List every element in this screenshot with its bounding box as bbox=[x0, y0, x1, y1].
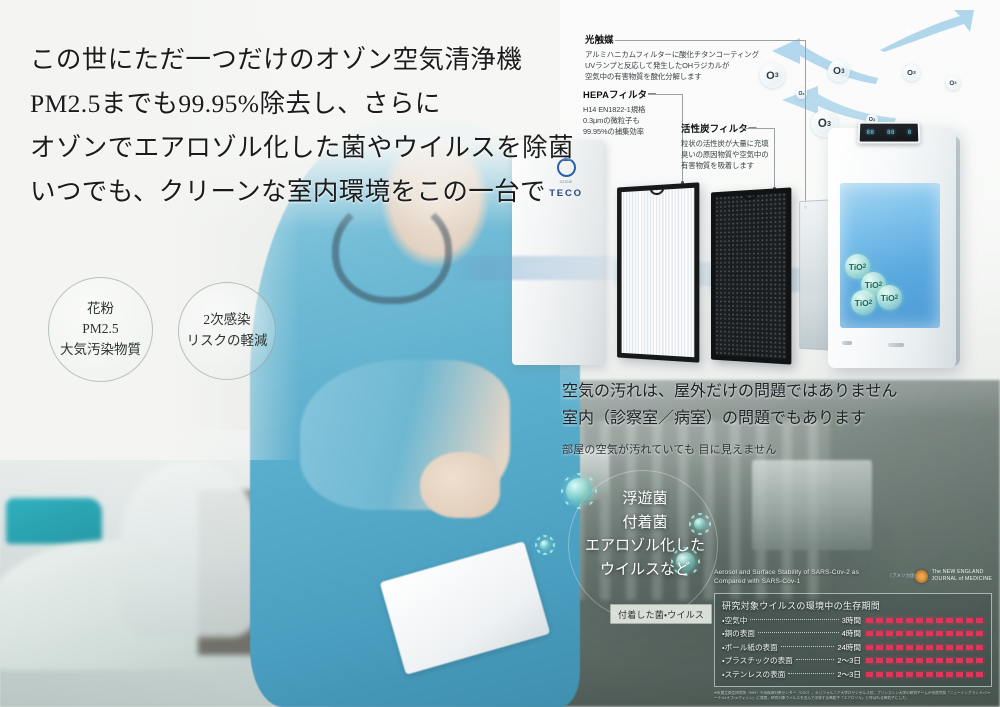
teco-logo-sub: OZONE bbox=[560, 180, 573, 184]
bed-sheet bbox=[0, 540, 240, 670]
table-row: ・プラスチックの表面 2〜3日 bbox=[722, 655, 984, 666]
row-leader bbox=[758, 632, 839, 633]
pathogen-label: 浮遊菌 付着菌 エアロゾル化した ウイルスなど bbox=[560, 488, 730, 583]
row-label: ・空気中 bbox=[722, 615, 747, 626]
sub-headline-line: 空気の汚れは、屋外だけの問題ではありません bbox=[562, 379, 962, 406]
row-label: ・ステンレスの表面 bbox=[722, 669, 785, 680]
table-title: 研究対象ウイルスの環境中の生存期間 bbox=[722, 599, 984, 612]
callout-body: アルミハニカムフィルターに酸化チタンコーティング UVランプと反応して発生したO… bbox=[585, 50, 775, 83]
row-leader bbox=[788, 673, 834, 674]
benefit-line: 大気汚染物質 bbox=[60, 340, 141, 361]
table-row: ・ボール紙の表面 24時間 bbox=[722, 642, 984, 653]
callout-photocatalyst: 光触媒 アルミハニカムフィルターに酸化チタンコーティング UVランプと反応して発… bbox=[585, 33, 775, 83]
callout-carbon-filter: 活性炭フィルター 粒状の活性炭が大量に充填 臭いの原因物質や空気中の 有害物質を… bbox=[681, 122, 785, 172]
display-segment: 88 bbox=[887, 129, 895, 136]
dust-speck bbox=[905, 28, 911, 34]
ozone-bubble: O3 bbox=[946, 76, 960, 90]
tio2-tag: TiO2 bbox=[877, 285, 902, 310]
benefit-line: リスクの軽減 bbox=[187, 331, 268, 352]
headline-line: PM2.5までも99.95%除去し、さらに bbox=[30, 82, 550, 126]
clipboard bbox=[380, 541, 551, 675]
teco-logo: OZONE TECO bbox=[548, 158, 584, 199]
airflow-arrow-top-right bbox=[878, 8, 976, 52]
tio2-tag: TiO2 bbox=[851, 290, 876, 315]
hepa-filter-panel bbox=[617, 182, 699, 362]
benefit-badge-pollen-pm25: 花粉 PM2.5 大気汚染物質 bbox=[48, 277, 153, 382]
row-label: ・銅の表面 bbox=[722, 628, 755, 639]
callout-body: 粒状の活性炭が大量に充填 臭いの原因物質や空気中の 有害物質を吸着します bbox=[681, 139, 785, 172]
pathogen-line: 付着菌 bbox=[560, 512, 730, 536]
carbon-filter-handle bbox=[742, 192, 757, 201]
nejm-brand-line2: JOURNAL of MEDICINE bbox=[932, 576, 992, 583]
nejm-brand-line1: The NEW ENGLAND bbox=[932, 569, 992, 576]
benefit-line: 2次感染 bbox=[203, 310, 250, 331]
bed-headboard bbox=[6, 498, 102, 544]
callout-title: HEPAフィルター bbox=[583, 88, 657, 103]
nejm-data-panel: Aerosol and Surface Stability of SARS-Co… bbox=[714, 568, 992, 701]
leader-line-photocatalyst-drop bbox=[805, 40, 806, 208]
row-bar bbox=[866, 658, 984, 663]
surface-contamination-tag: 付着した菌・ウイルス bbox=[610, 604, 712, 624]
row-label: ・プラスチックの表面 bbox=[722, 655, 793, 666]
pathogen-line: ウイルスなど bbox=[560, 559, 730, 583]
row-value: 3時間 bbox=[842, 615, 861, 626]
row-leader bbox=[781, 646, 835, 647]
nurse-arm bbox=[300, 360, 510, 510]
row-label: ・ボール紙の表面 bbox=[722, 642, 778, 653]
table-row: ・銅の表面 4時間 bbox=[722, 628, 984, 639]
row-leader bbox=[750, 619, 838, 620]
table-row: ・空気中 3時間 bbox=[722, 615, 984, 626]
row-value: 2〜3日 bbox=[837, 655, 861, 666]
caregiver-figure bbox=[120, 462, 260, 637]
teco-brand-text: TECO bbox=[549, 188, 583, 199]
sub-headline-line: 室内（診察室／病室）の問題でもあります bbox=[562, 406, 962, 433]
row-bar bbox=[866, 631, 984, 636]
unit-vent bbox=[888, 343, 904, 347]
row-leader bbox=[796, 659, 835, 660]
headline-line: オゾンでエアロゾル化した菌やウイルスを除菌 bbox=[30, 126, 550, 170]
row-value: 24時間 bbox=[837, 642, 861, 653]
callout-body: H14 EN1822-1規格 0.3μmの微粒子も 99.95%の捕集効率 bbox=[583, 105, 687, 138]
row-value: 4時間 bbox=[842, 628, 861, 639]
dust-speck bbox=[963, 120, 968, 125]
patient-monitor-right bbox=[752, 460, 872, 550]
benefit-badge-secondary-infection: 2次感染 リスクの軽減 bbox=[178, 282, 276, 380]
callout-hepa-filter: HEPAフィルター H14 EN1822-1規格 0.3μmの微粒子も 99.9… bbox=[583, 88, 687, 138]
doorway bbox=[198, 490, 278, 655]
sub-headline-note: 部屋の空気が汚れていても 目に見えません bbox=[562, 441, 962, 457]
benefit-line: PM2.5 bbox=[82, 319, 118, 340]
ozone-bubble: O3 bbox=[903, 64, 920, 81]
display-segment: 88 bbox=[866, 129, 874, 136]
survival-duration-table: 研究対象ウイルスの環境中の生存期間 ・空気中 3時間 ・銅の表面 4時間 ・ボー… bbox=[714, 593, 992, 687]
patient-room-photo bbox=[0, 430, 330, 707]
pathogen-line: 浮遊菌 bbox=[560, 488, 730, 512]
nejm-study-title: Aerosol and Surface Stability of SARS-Co… bbox=[714, 568, 889, 587]
hepa-filter-handle bbox=[649, 187, 664, 196]
row-value: 2〜3日 bbox=[837, 669, 861, 680]
purifier-control-display[interactable]: 88 88 8 bbox=[858, 122, 921, 144]
ozone-bubble: O3 bbox=[796, 88, 807, 99]
benefit-line: 花粉 bbox=[87, 299, 114, 320]
page-title: この世にただ一つだけのオゾン空気清浄機 PM2.5までも99.95%除去し、さら… bbox=[30, 38, 550, 213]
nejm-brand-text: The NEW ENGLAND JOURNAL of MEDICINE bbox=[932, 569, 992, 584]
row-bar bbox=[866, 645, 984, 650]
row-bar bbox=[866, 672, 984, 677]
nejm-brand-logo: The NEW ENGLAND JOURNAL of MEDICINE bbox=[915, 569, 992, 584]
headline-line: いつでも、クリーンな室内環境をこの一台で bbox=[30, 170, 550, 214]
table-row: ・ステンレスの表面 2〜3日 bbox=[722, 669, 984, 680]
pathogen-line: エアロゾル化した bbox=[560, 535, 730, 559]
activated-carbon-filter-panel bbox=[711, 187, 791, 364]
unit-vent bbox=[842, 341, 852, 345]
ozone-bubble: O3 bbox=[828, 60, 850, 82]
headline-line: この世にただ一つだけのオゾン空気清浄機 bbox=[30, 38, 550, 82]
nejm-seal-icon bbox=[915, 570, 928, 583]
nurse-hand bbox=[420, 452, 500, 518]
sub-headline: 空気の汚れは、屋外だけの問題ではありません 室内（診察室／病室）の問題でもありま… bbox=[562, 379, 962, 457]
poster-canvas: O3 O3 O3 O3 O3 O3 O3 光触媒 アルミハニカムフィルターに酸化… bbox=[0, 0, 1000, 707]
display-segment: 8 bbox=[908, 129, 912, 136]
callout-title: 活性炭フィルター bbox=[681, 122, 757, 137]
callout-title: 光触媒 bbox=[585, 33, 614, 48]
airflow-arrow-lower bbox=[778, 82, 898, 126]
virus-particle-icon bbox=[540, 540, 550, 550]
row-bar bbox=[866, 618, 984, 623]
nejm-footnote: ※米国立衛生研究所（NIH）や米疾病対策センター（CDC）、カリフォルニア大学ロ… bbox=[714, 691, 992, 701]
airflow-arrow-upper bbox=[770, 38, 880, 86]
